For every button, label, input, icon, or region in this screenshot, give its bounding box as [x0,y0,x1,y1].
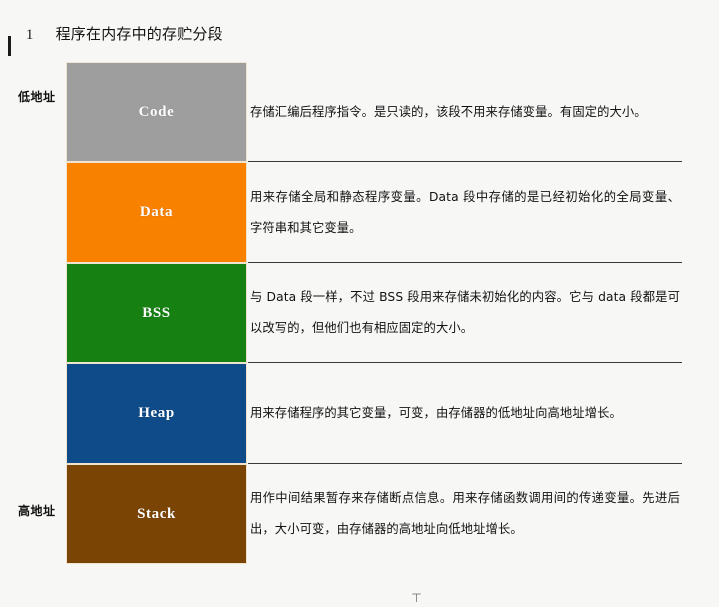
low-address-label: 低地址 [18,88,56,105]
memory-block-heap: Heap [66,363,247,464]
memory-description-heap: 用来存储程序的其它变量，可变，由存储器的低地址向高地址增长。 [248,363,682,464]
memory-description-text: 用来存储程序的其它变量，可变，由存储器的低地址向高地址增长。 [250,398,680,429]
memory-description-data: 用来存储全局和静态程序变量。Data 段中存储的是已经初始化的全局变量、字符串和… [248,162,682,263]
page-title: 1程序在内存中的存贮分段 [18,6,223,44]
memory-block-label: Data [140,204,173,221]
memory-block-code: Code [66,62,247,162]
memory-layout-diagram: 低地址 高地址 CodeDataBSSHeapStack 存储汇编后程序指令。是… [0,62,719,564]
high-address-label: 高地址 [18,502,56,519]
memory-block-label: BSS [142,305,171,322]
memory-block-label: Stack [137,506,176,523]
page-title-text: 程序在内存中的存贮分段 [56,27,223,43]
memory-block-label: Heap [138,405,175,422]
memory-description-text: 存储汇编后程序指令。是只读的，该段不用来存储变量。有固定的大小。 [250,97,680,128]
page-title-number: 1 [26,27,34,43]
memory-description-bss: 与 Data 段一样，不过 BSS 段用来存储未初始化的内容。它与 data 段… [248,263,682,363]
page-root: { "document": { "heading_number": "1", "… [0,0,719,607]
memory-block-stack: Stack [66,464,247,564]
memory-segment-blocks: CodeDataBSSHeapStack [66,62,247,564]
memory-block-bss: BSS [66,263,247,363]
memory-description-stack: 用作中间结果暂存来存储断点信息。用来存储函数调用间的传递变量。先进后出，大小可变… [248,464,682,564]
memory-block-data: Data [66,162,247,263]
memory-description-text: 用作中间结果暂存来存储断点信息。用来存储函数调用间的传递变量。先进后出，大小可变… [250,483,680,545]
memory-block-label: Code [139,104,175,121]
memory-segment-descriptions: 存储汇编后程序指令。是只读的，该段不用来存储变量。有固定的大小。用来存储全局和静… [248,62,682,564]
bottom-caret-icon: ⊤ [411,594,422,604]
memory-description-text: 用来存储全局和静态程序变量。Data 段中存储的是已经初始化的全局变量、字符串和… [250,182,680,244]
text-caret-icon [8,36,11,56]
memory-description-code: 存储汇编后程序指令。是只读的，该段不用来存储变量。有固定的大小。 [248,62,682,162]
memory-description-text: 与 Data 段一样，不过 BSS 段用来存储未初始化的内容。它与 data 段… [250,282,680,344]
